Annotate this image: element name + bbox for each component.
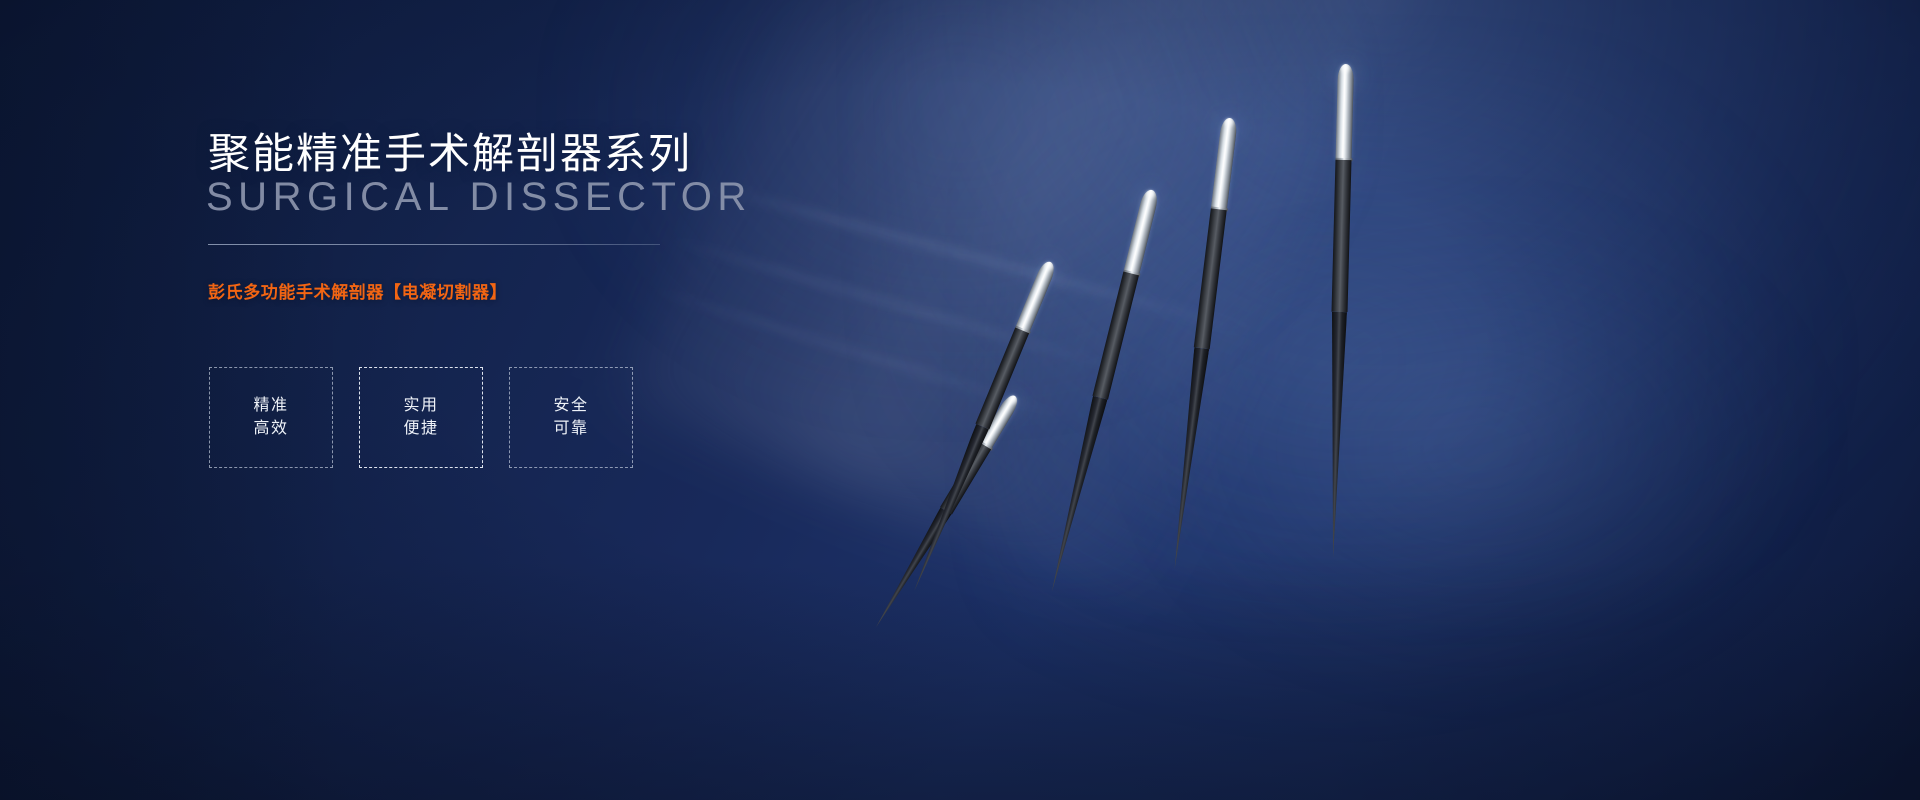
hero-banner: 聚能精准手术解剖器系列 SURGICAL DISSECTOR 彭氏多功能手术解剖… xyxy=(0,0,1920,800)
divider xyxy=(208,244,660,245)
feature-line-1: 实用 xyxy=(403,398,438,414)
feature-box-precision: 精准 高效 xyxy=(209,367,333,468)
feature-line-1: 精准 xyxy=(253,398,288,414)
feature-box-group: 精准 高效 实用 便捷 安全 可靠 xyxy=(209,367,633,468)
hero-content: 聚能精准手术解剖器系列 SURGICAL DISSECTOR 彭氏多功能手术解剖… xyxy=(0,0,1920,800)
feature-line-2: 便捷 xyxy=(403,421,438,437)
product-name-label: 彭氏多功能手术解剖器【电凝切割器】 xyxy=(208,278,507,303)
feature-box-practical: 实用 便捷 xyxy=(359,367,483,468)
feature-line-2: 可靠 xyxy=(553,421,588,437)
page-title: 聚能精准手术解剖器系列 xyxy=(208,120,692,181)
page-subtitle-english: SURGICAL DISSECTOR xyxy=(206,175,752,220)
feature-box-safety: 安全 可靠 xyxy=(509,367,633,468)
feature-line-1: 安全 xyxy=(553,398,588,414)
feature-line-2: 高效 xyxy=(253,421,288,437)
